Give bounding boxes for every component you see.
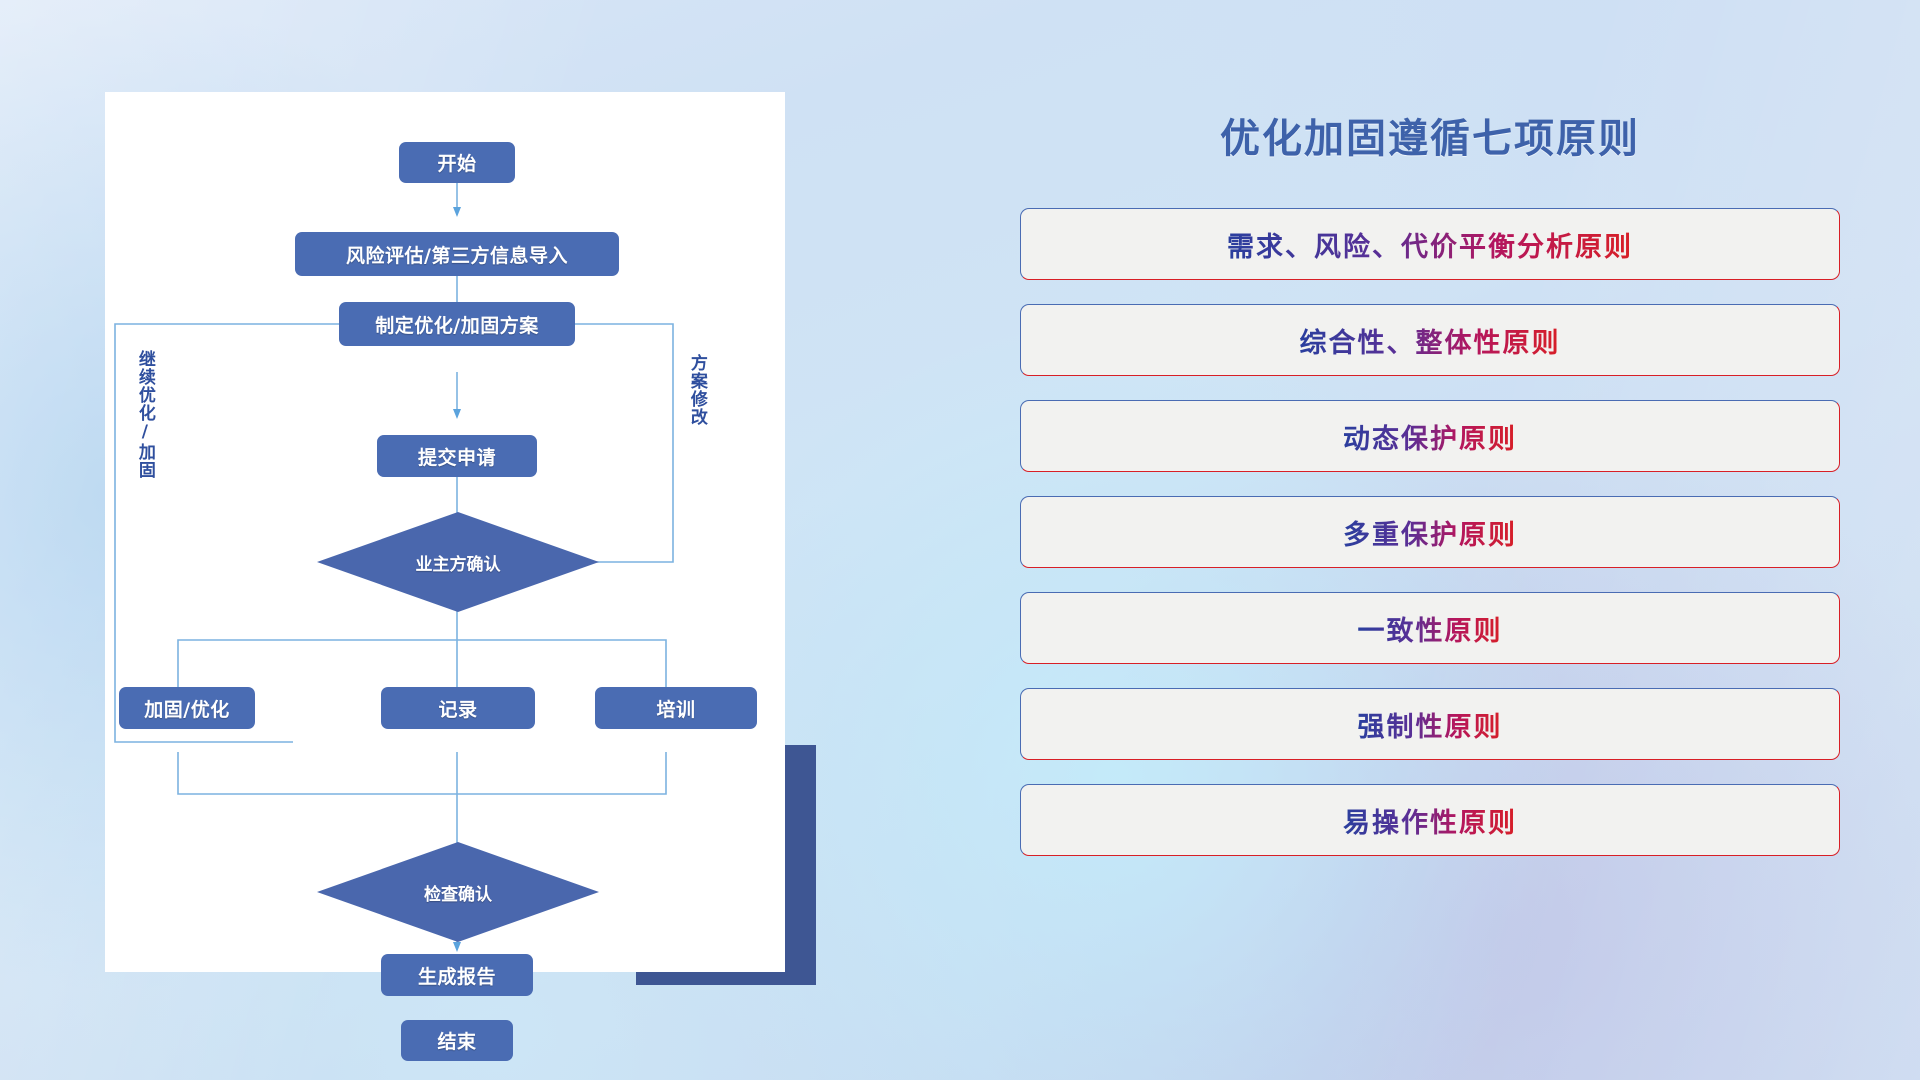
flow-node-label: 风险评估/第三方信息导入 — [346, 241, 568, 268]
flow-node-label: 结束 — [437, 1027, 476, 1054]
principle-card-label: 综合性、整体性原则 — [1300, 321, 1561, 360]
principle-card[interactable]: 一致性原则 — [1020, 592, 1840, 664]
flowchart-diagram: 开始 风险评估/第三方信息导入 制定优化/加固方案 提交申请 业主方确认 加固/… — [105, 92, 785, 972]
flow-node-start[interactable]: 开始 — [399, 142, 515, 183]
principle-card-label: 易操作性原则 — [1343, 801, 1517, 840]
flow-node-end[interactable]: 结束 — [401, 1020, 513, 1061]
flow-node-label: 生成报告 — [418, 962, 496, 989]
principle-card[interactable]: 易操作性原则 — [1020, 784, 1840, 856]
flow-node-record[interactable]: 记录 — [381, 687, 535, 729]
principle-card-label: 动态保护原则 — [1343, 417, 1517, 456]
principle-card-label: 需求、风险、代价平衡分析原则 — [1227, 225, 1633, 264]
flow-node-label: 记录 — [438, 695, 477, 722]
principle-card-label: 强制性原则 — [1358, 705, 1503, 744]
principle-card-label: 一致性原则 — [1358, 609, 1503, 648]
principles-title: 优化加固遵循七项原则 — [1020, 106, 1840, 164]
flow-node-generate-report[interactable]: 生成报告 — [381, 954, 533, 996]
flow-node-label: 制定优化/加固方案 — [375, 311, 538, 338]
principle-card-label: 多重保护原则 — [1343, 513, 1517, 552]
flow-node-label: 培训 — [656, 695, 695, 722]
flow-edge-label-plan-revision: 方案修改 — [687, 354, 705, 494]
flow-edge-label-continue-optimize: 继续优化/加固 — [135, 350, 153, 540]
principle-card[interactable]: 需求、风险、代价平衡分析原则 — [1020, 208, 1840, 280]
flow-decision-label: 业主方确认 — [416, 550, 501, 575]
flow-node-submit-application[interactable]: 提交申请 — [377, 435, 537, 477]
flowchart-card: 开始 风险评估/第三方信息导入 制定优化/加固方案 提交申请 业主方确认 加固/… — [105, 92, 785, 972]
flow-node-label: 加固/优化 — [144, 695, 229, 722]
flow-node-label: 开始 — [437, 149, 476, 176]
principle-card[interactable]: 动态保护原则 — [1020, 400, 1840, 472]
flow-node-risk-assessment[interactable]: 风险评估/第三方信息导入 — [295, 232, 619, 276]
flow-node-training[interactable]: 培训 — [595, 687, 757, 729]
principle-card[interactable]: 综合性、整体性原则 — [1020, 304, 1840, 376]
flow-decision-label: 检查确认 — [424, 880, 492, 905]
principles-panel: 优化加固遵循七项原则 需求、风险、代价平衡分析原则 综合性、整体性原则 动态保护… — [1020, 78, 1840, 1008]
flow-node-reinforce-optimize[interactable]: 加固/优化 — [119, 687, 255, 729]
principle-card[interactable]: 强制性原则 — [1020, 688, 1840, 760]
flow-node-plan[interactable]: 制定优化/加固方案 — [339, 302, 575, 346]
flow-node-label: 提交申请 — [418, 443, 496, 470]
principle-card[interactable]: 多重保护原则 — [1020, 496, 1840, 568]
